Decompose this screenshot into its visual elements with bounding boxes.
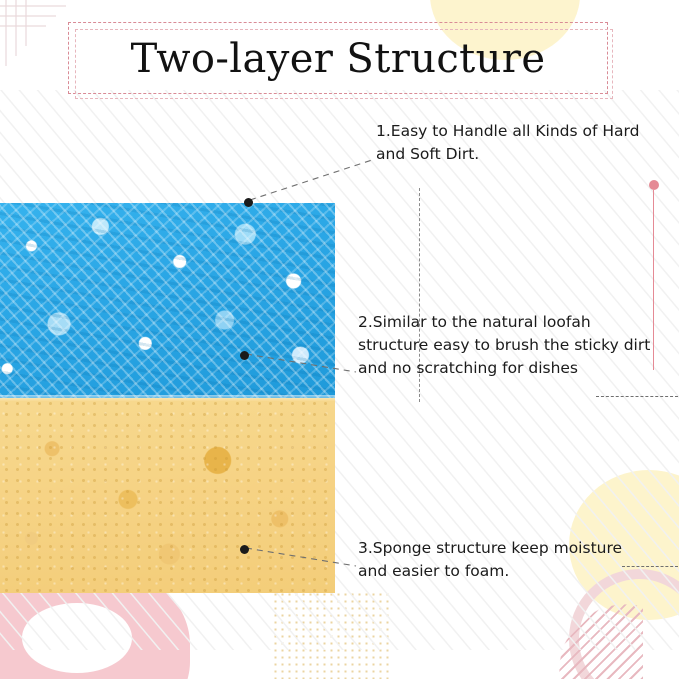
- right-edge-dash-1: [596, 396, 678, 397]
- callout-dot-1-icon: [244, 198, 253, 207]
- infographic-page: Two-layer Structure 1.Easy to Handle all…: [0, 0, 679, 679]
- callout-text-3: 3.Sponge structure keep moisture and eas…: [358, 537, 654, 583]
- callout-text-2: 2.Similar to the natural loofah structur…: [358, 311, 654, 380]
- pin-dot-icon: [649, 180, 659, 190]
- callout-dot-3-icon: [240, 545, 249, 554]
- callout-dot-2-icon: [240, 351, 249, 360]
- callout-text-1: 1.Easy to Handle all Kinds of Hard and S…: [376, 120, 652, 166]
